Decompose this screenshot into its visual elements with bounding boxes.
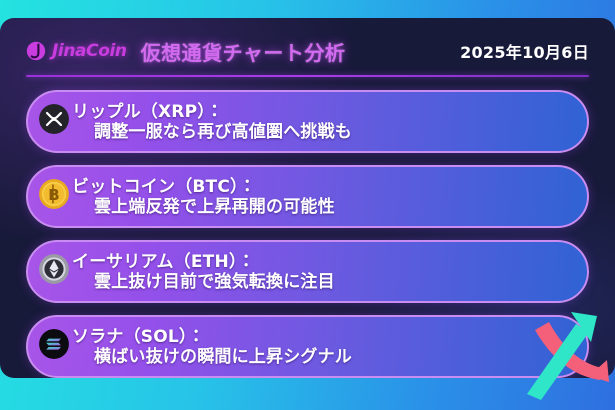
coin-card-eth[interactable]: イーサリアム（ETH）： 雲上抜け目前で強気転換に注目 <box>26 240 589 303</box>
date-label: 2025年10月6日 <box>460 39 589 63</box>
jinacoin-logo-icon <box>26 41 46 61</box>
header: JinaCoin 仮想通貨チャート分析 2025年10月6日 <box>26 34 589 68</box>
coin-card-title: イーサリアム（ETH）： <box>72 252 335 272</box>
poster-frame: JinaCoin 仮想通貨チャート分析 2025年10月6日 <box>0 0 615 410</box>
coin-card-desc: 雲上端反発で上昇再開の可能性 <box>94 197 335 217</box>
eth-icon <box>39 254 69 284</box>
coin-card-list: リップル（XRP）： 調整一服なら再び高値圏へ挑戦も B <box>26 90 589 378</box>
xrp-icon <box>39 104 69 134</box>
coin-card-title: ビットコイン（BTC）： <box>72 177 335 197</box>
coin-card-title: ソラナ（SOL）： <box>72 327 352 347</box>
coin-card-xrp[interactable]: リップル（XRP）： 調整一服なら再び高値圏へ挑戦も <box>26 90 589 153</box>
header-divider <box>26 75 589 77</box>
coin-card-btc[interactable]: B ビットコイン（BTC）： 雲上端反発で上昇再開の可能性 <box>26 165 589 228</box>
content-panel: JinaCoin 仮想通貨チャート分析 2025年10月6日 <box>0 18 615 378</box>
coin-card-title: リップル（XRP）： <box>72 102 352 122</box>
coin-card-desc: 調整一服なら再び高値圏へ挑戦も <box>94 122 352 142</box>
sol-icon <box>39 329 69 359</box>
coin-card-desc: 雲上抜け目前で強気転換に注目 <box>94 272 335 292</box>
coin-card-sol[interactable]: ソラナ（SOL）： 横ばい抜けの瞬間に上昇シグナル <box>26 315 589 378</box>
page-title: 仮想通貨チャート分析 <box>141 37 346 66</box>
btc-icon: B <box>39 179 69 209</box>
coin-card-desc: 横ばい抜けの瞬間に上昇シグナル <box>94 347 352 367</box>
logo-wordmark: JinaCoin <box>52 41 127 61</box>
svg-text:B: B <box>48 186 59 204</box>
